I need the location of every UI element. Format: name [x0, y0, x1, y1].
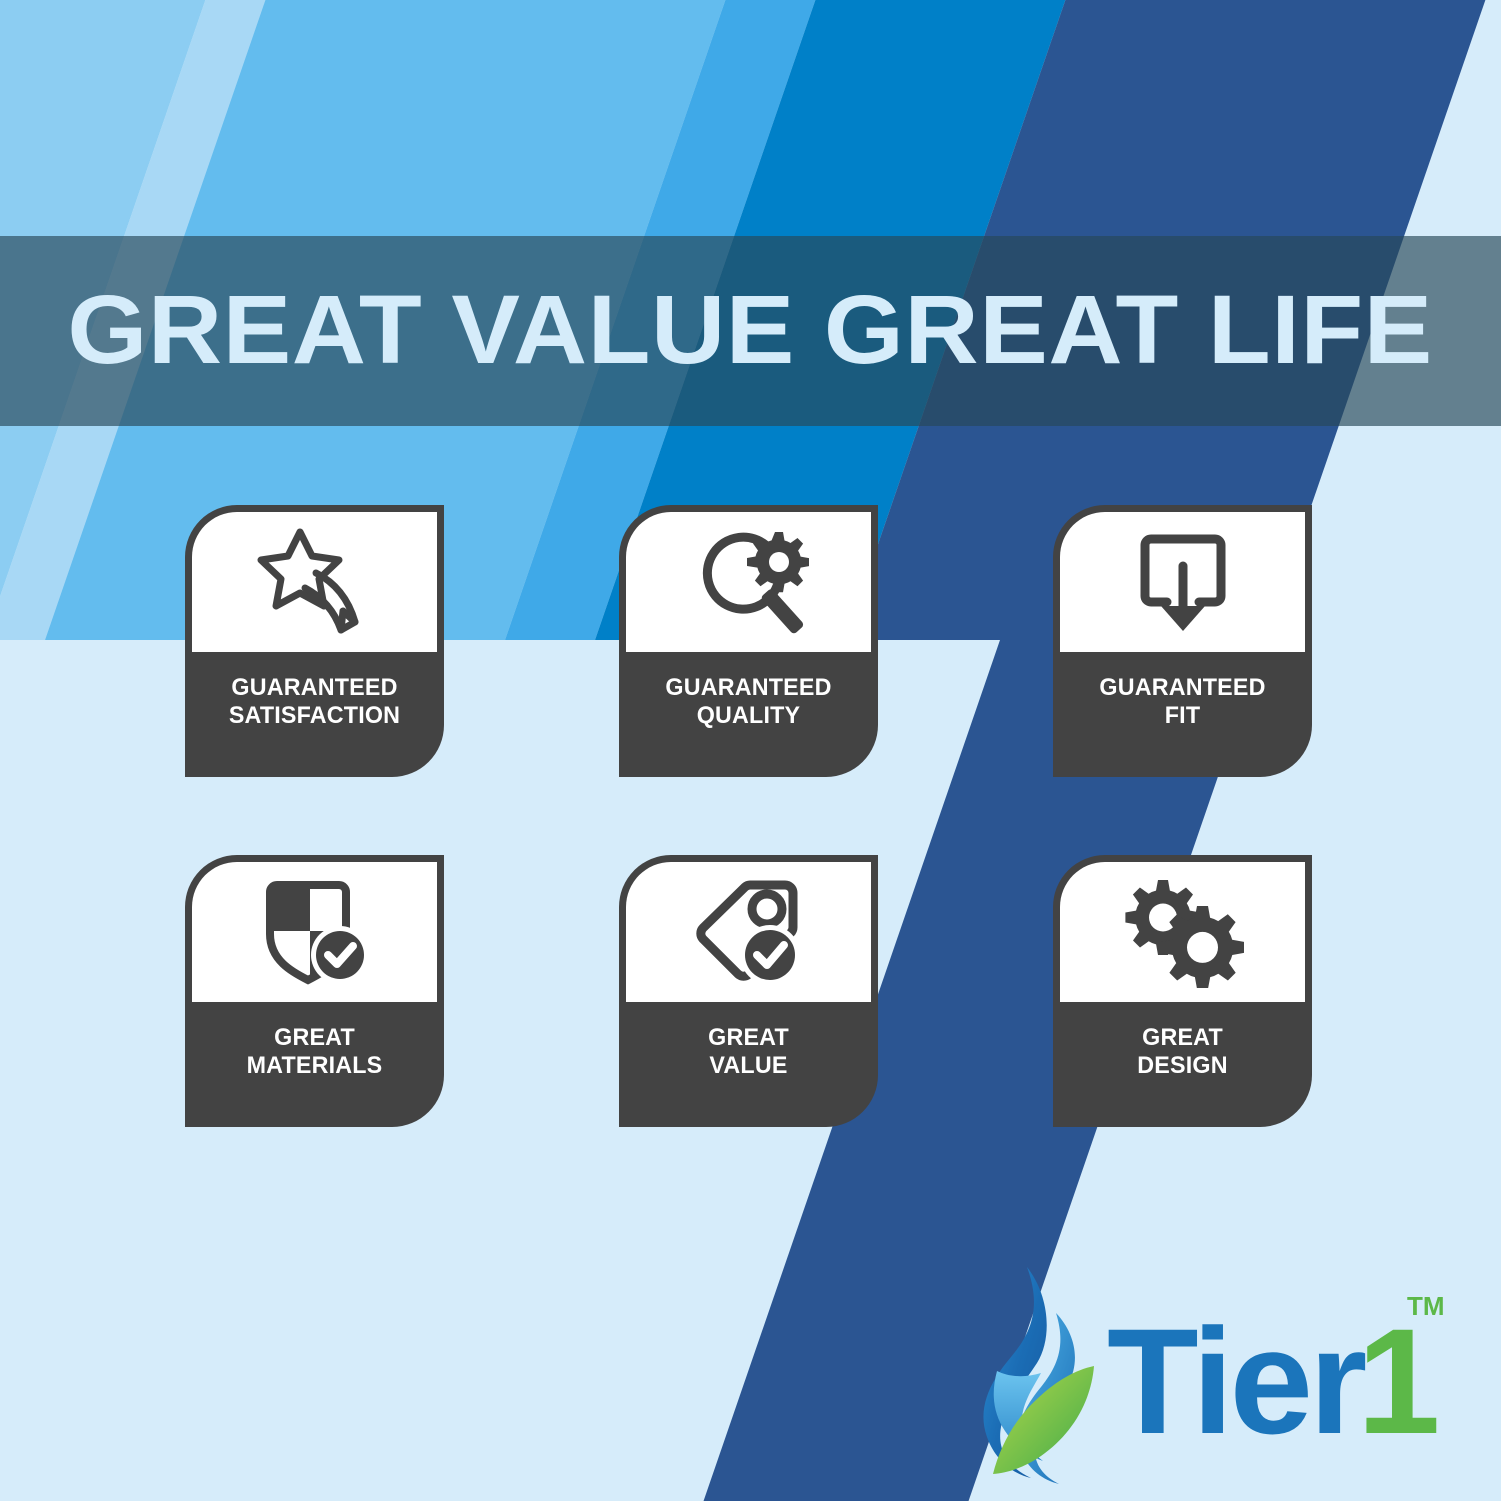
- feature-card-great-design[interactable]: GREAT DESIGN: [1053, 855, 1312, 1127]
- promo-graphic: GREAT VALUE GREAT LIFE G: [0, 0, 1501, 1501]
- feature-card-row-1: GUARANTEED SATISFACTION: [185, 505, 1333, 777]
- feature-card-grid: GUARANTEED SATISFACTION: [185, 505, 1333, 1127]
- card-label-line1: GUARANTEED: [665, 674, 831, 701]
- price-tag-check-icon: [688, 876, 810, 988]
- tier1-logo: Tier 1 TM: [955, 1253, 1465, 1488]
- card-label-line2: QUALITY: [697, 702, 801, 729]
- icon-panel: [626, 512, 871, 652]
- card-label: GUARANTEED QUALITY: [630, 652, 868, 777]
- logo-wordmark-one: 1: [1357, 1297, 1440, 1465]
- shield-check-icon: [256, 876, 374, 988]
- card-label: GUARANTEED FIT: [1064, 652, 1302, 777]
- feature-card-guaranteed-satisfaction[interactable]: GUARANTEED SATISFACTION: [185, 505, 444, 777]
- card-label-line1: GUARANTEED: [1099, 674, 1265, 701]
- icon-panel: [192, 512, 437, 652]
- card-label-line2: MATERIALS: [247, 1052, 383, 1079]
- card-label-line2: FIT: [1165, 702, 1200, 729]
- page-title: GREAT VALUE GREAT LIFE: [68, 281, 1433, 382]
- trademark-symbol: TM: [1407, 1291, 1445, 1321]
- card-label: GREAT VALUE: [630, 1002, 868, 1127]
- icon-panel: [626, 862, 871, 1002]
- icon-panel: [192, 862, 437, 1002]
- gears-icon: [1121, 876, 1245, 988]
- card-label-line1: GUARANTEED: [231, 674, 397, 701]
- feature-card-great-materials[interactable]: GREAT MATERIALS: [185, 855, 444, 1127]
- magnifier-gear-icon: [689, 526, 809, 638]
- icon-panel: [1060, 862, 1305, 1002]
- feature-card-guaranteed-fit[interactable]: GUARANTEED FIT: [1053, 505, 1312, 777]
- card-label: GUARANTEED SATISFACTION: [196, 652, 434, 777]
- water-drop-leaf-icon: [983, 1267, 1094, 1484]
- feature-card-guaranteed-quality[interactable]: GUARANTEED QUALITY: [619, 505, 878, 777]
- card-label-line1: GREAT: [1142, 1024, 1223, 1051]
- feature-card-great-value[interactable]: GREAT VALUE: [619, 855, 878, 1127]
- card-label-line2: DESIGN: [1137, 1052, 1227, 1079]
- card-label-line2: SATISFACTION: [229, 702, 400, 729]
- shooting-star-icon: [256, 526, 374, 638]
- logo-wordmark-tier: Tier: [1107, 1297, 1366, 1465]
- card-label: GREAT MATERIALS: [196, 1002, 434, 1127]
- feature-card-row-2: GREAT MATERIALS GREAT VAL: [185, 855, 1333, 1127]
- card-label-line1: GREAT: [708, 1024, 789, 1051]
- card-label-line2: VALUE: [709, 1052, 787, 1079]
- banner: GREAT VALUE GREAT LIFE: [0, 236, 1501, 426]
- card-label-line1: GREAT: [274, 1024, 355, 1051]
- gear-glyph: [747, 532, 809, 592]
- download-fit-icon: [1128, 526, 1238, 638]
- icon-panel: [1060, 512, 1305, 652]
- card-label: GREAT DESIGN: [1064, 1002, 1302, 1127]
